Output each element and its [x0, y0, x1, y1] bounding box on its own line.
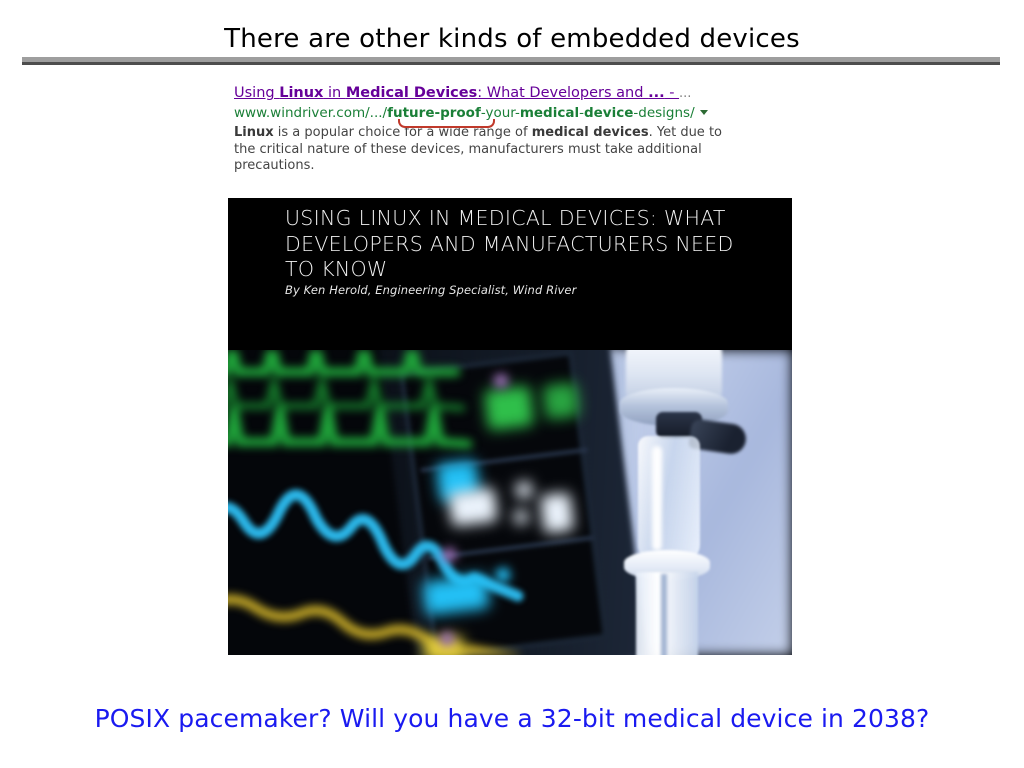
search-result-url[interactable]: www.windriver.com/.../future-proof-your-… — [234, 104, 754, 122]
title-segment-4: - — [665, 85, 679, 101]
title-segment-1: Using — [234, 85, 279, 101]
title-tail-ellipsis: ... — [679, 86, 691, 101]
readout-dot-violet-1 — [493, 373, 509, 389]
title-segment-3: : What Developers and — [477, 85, 648, 101]
iv-drip-chamber — [638, 436, 700, 561]
search-result-link[interactable]: Using Linux in Medical Devices: What Dev… — [234, 85, 679, 101]
readout-dot-violet-3 — [439, 631, 455, 647]
divider-dark-bar — [22, 62, 1000, 65]
whitepaper-header: USING LINUX IN MEDICAL DEVICES: WHAT DEV… — [228, 198, 792, 350]
url-segment-4: -designs/ — [633, 105, 694, 121]
medical-monitor-photo — [228, 350, 792, 655]
search-result-snippet: Linux is a popular choice for a wide ran… — [234, 125, 746, 175]
title-segment-2: in — [323, 85, 345, 101]
chevron-down-icon[interactable] — [700, 110, 708, 115]
bottom-caption: POSIX pacemaker? Will you have a 32-bit … — [0, 704, 1024, 733]
snippet-bold-medical-devices: medical devices — [532, 125, 649, 140]
whitepaper-cover-image: USING LINUX IN MEDICAL DEVICES: WHAT DEV… — [228, 198, 792, 655]
readout-heart-rate — [484, 385, 535, 430]
title-bold-medical-devices: Medical Devices — [346, 85, 477, 101]
search-result-block: Using Linux in Medical Devices: What Dev… — [234, 84, 754, 175]
readout-dot-violet-2 — [441, 547, 457, 563]
title-divider — [22, 57, 1000, 65]
title-bold-ellipsis: ... — [648, 85, 665, 101]
readout-heart-rate-secondary — [542, 382, 580, 420]
iv-drip-chamber-highlight — [652, 446, 662, 551]
readout-dot-white-1 — [515, 481, 533, 499]
url-bold-device: device — [584, 105, 633, 121]
red-annotation-underline — [398, 119, 495, 128]
title-bold-linux: Linux — [279, 85, 323, 101]
readout-nibp — [448, 487, 498, 526]
readout-dot-white-2 — [513, 509, 529, 525]
iv-tube — [636, 572, 698, 655]
readout-dot-cyan-1 — [495, 567, 511, 583]
search-result-title[interactable]: Using Linux in Medical Devices: What Dev… — [234, 84, 754, 103]
iv-tube-inner-line — [661, 574, 667, 655]
page-title: There are other kinds of embedded device… — [0, 24, 1024, 54]
snippet-bold-linux: Linux — [234, 125, 274, 140]
readout-white-value — [540, 492, 574, 533]
whitepaper-title: USING LINUX IN MEDICAL DEVICES: WHAT DEV… — [285, 206, 755, 283]
url-bold-medical: medical — [520, 105, 579, 121]
url-segment-1: www.windriver.com/.../ — [234, 105, 387, 121]
whitepaper-byline: By Ken Herold, Engineering Specialist, W… — [285, 283, 576, 297]
